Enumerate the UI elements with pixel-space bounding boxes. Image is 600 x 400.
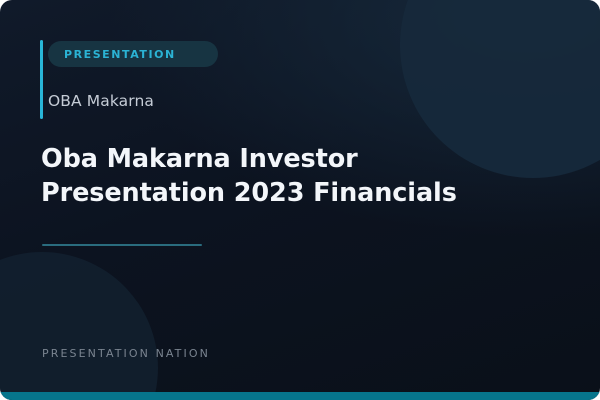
category-badge-label: PRESENTATION <box>48 48 176 61</box>
slide-content: PRESENTATION OBA Makarna Oba Makarna Inv… <box>0 0 600 400</box>
category-badge: PRESENTATION <box>48 41 218 67</box>
slide-subtitle: OBA Makarna <box>48 92 154 110</box>
slide-title: Oba Makarna Investor Presentation 2023 F… <box>41 143 471 210</box>
title-divider-rule <box>42 244 202 246</box>
bottom-accent-bar <box>0 392 600 400</box>
presentation-title-slide: PRESENTATION OBA Makarna Oba Makarna Inv… <box>0 0 600 400</box>
left-accent-bar <box>40 40 43 119</box>
footer-brand-label: PRESENTATION NATION <box>42 347 210 360</box>
